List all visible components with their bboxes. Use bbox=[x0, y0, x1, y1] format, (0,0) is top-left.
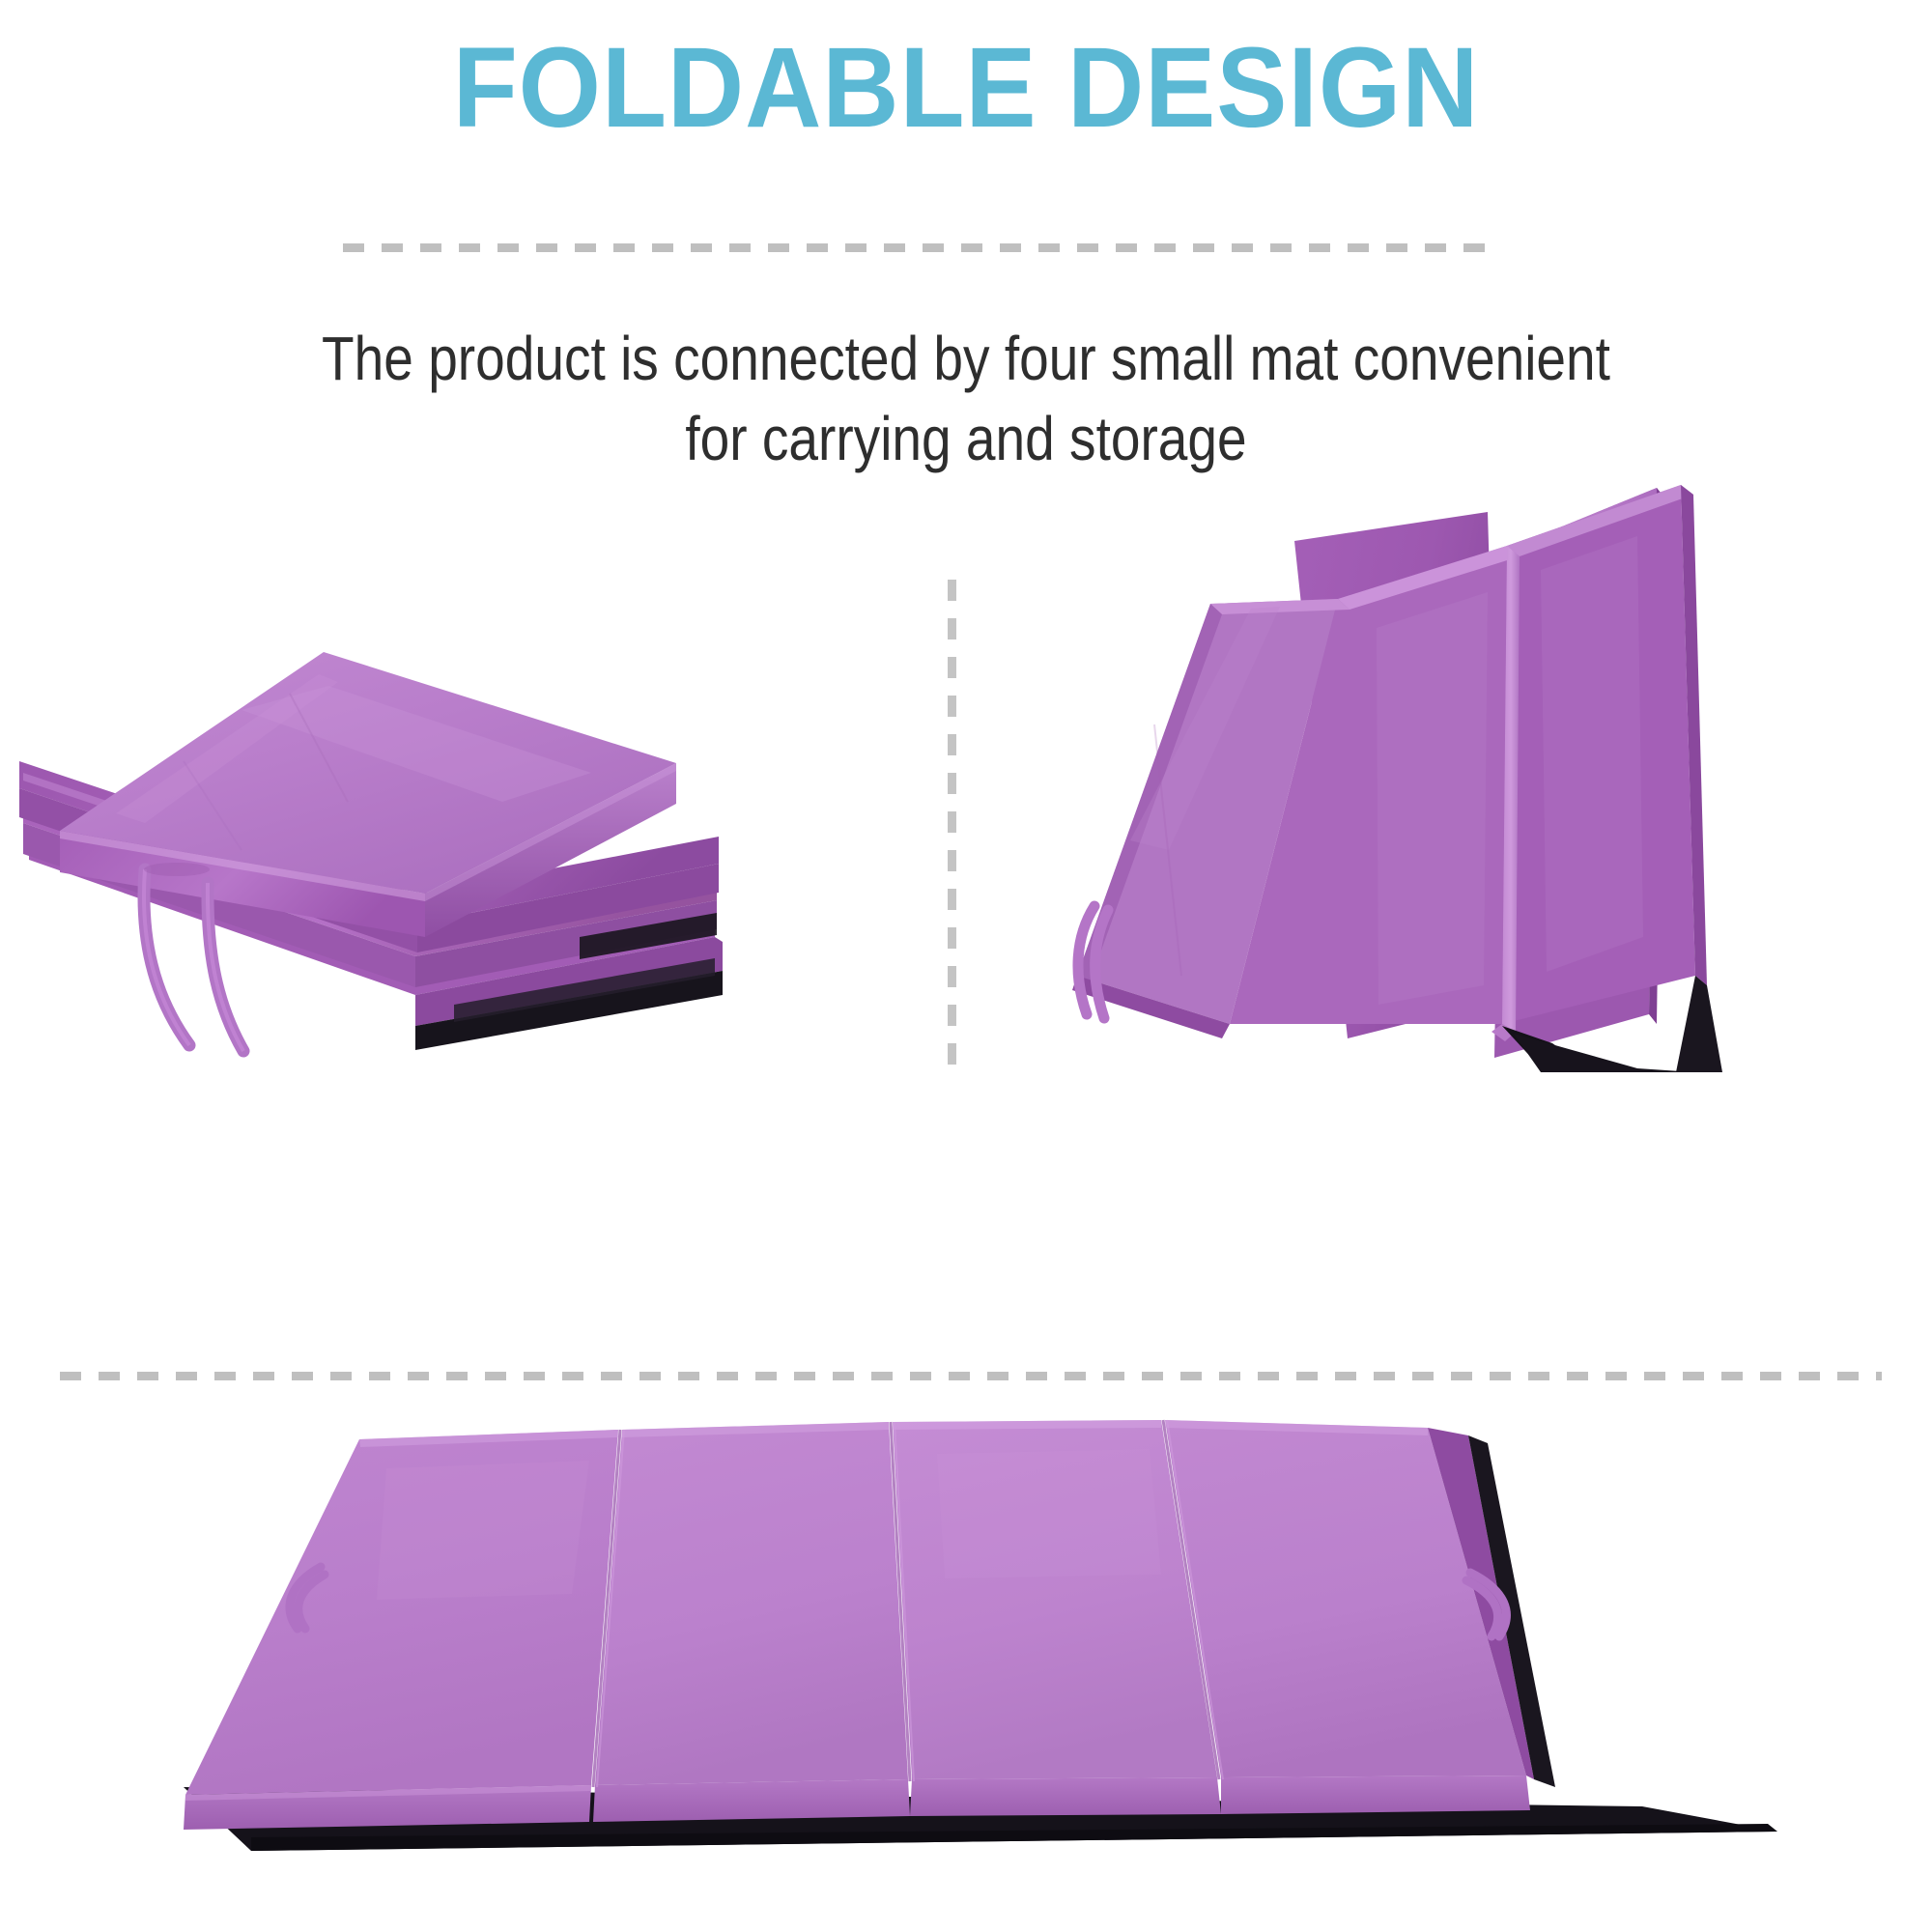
mat-panel-2 bbox=[593, 1422, 910, 1822]
photo-folded-stack bbox=[0, 454, 947, 1072]
divider-vertical-between-photos bbox=[948, 580, 956, 1067]
divider-horizontal-middle bbox=[60, 1372, 1882, 1380]
subtitle-line-1: The product is connected by four small m… bbox=[322, 324, 1610, 393]
infographic-page: FOLDABLE DESIGN The product is connected… bbox=[0, 0, 1932, 1932]
divider-under-title bbox=[343, 243, 1492, 252]
photo-zigzag-fold bbox=[961, 435, 1932, 1072]
page-title: FOLDABLE DESIGN bbox=[68, 27, 1864, 150]
photo-flat-unfolded bbox=[135, 1401, 1797, 1903]
